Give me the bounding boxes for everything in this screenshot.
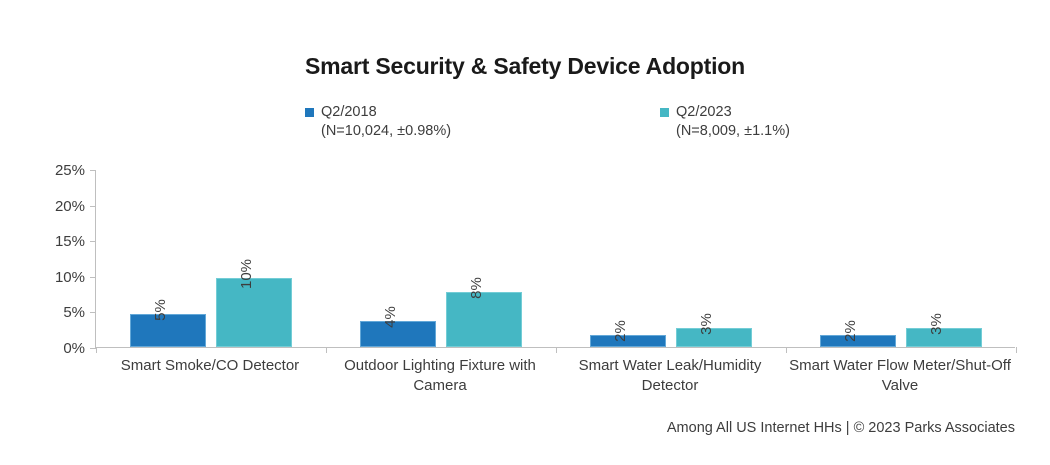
x-axis-category-label: Smart Smoke/CO Detector xyxy=(95,356,325,376)
bar-series-0-category-1: 4% xyxy=(360,321,436,347)
y-axis-tick xyxy=(90,312,96,313)
chart-footnote: Among All US Internet HHs | © 2023 Parks… xyxy=(0,420,1015,436)
chart-title: Smart Security & Safety Device Adoption xyxy=(0,53,1050,80)
legend-sublabel-series-0: (N=10,024, ±0.98%) xyxy=(305,122,451,141)
legend-item-q2-2023: Q2/2023 (N=8,009, ±1.1%) xyxy=(660,103,790,141)
bar-value-label: 3% xyxy=(699,313,714,335)
bar-chart: Smart Security & Safety Device Adoption … xyxy=(0,0,1050,465)
y-axis-tick xyxy=(90,206,96,207)
y-axis-tick-label: 25% xyxy=(35,163,85,178)
y-axis-tick-label: 10% xyxy=(35,270,85,285)
bar-value-label: 3% xyxy=(929,313,944,335)
y-axis-tick-label: 0% xyxy=(35,341,85,356)
x-axis-category-label: Smart Water Leak/Humidity Detector xyxy=(555,356,785,396)
bar-value-label: 5% xyxy=(153,299,168,321)
x-axis-tick xyxy=(556,347,557,353)
y-axis-tick xyxy=(90,170,96,171)
x-axis-category-labels: Smart Smoke/CO DetectorOutdoor Lighting … xyxy=(95,356,1015,406)
legend-swatch-icon-series-0 xyxy=(305,108,314,117)
bar-series-1-category-1: 8% xyxy=(446,292,522,347)
legend-item-q2-2018: Q2/2018 (N=10,024, ±0.98%) xyxy=(305,103,451,141)
bar-series-0-category-0: 5% xyxy=(130,314,206,347)
bar-value-label: 10% xyxy=(239,259,254,289)
y-axis-tick xyxy=(90,241,96,242)
legend-label-series-0: Q2/2018 xyxy=(321,103,377,122)
bar-series-0-category-2: 2% xyxy=(590,335,666,347)
x-axis-tick xyxy=(786,347,787,353)
bar-value-label: 2% xyxy=(613,320,628,342)
bar-value-label: 8% xyxy=(469,277,484,299)
y-axis-tick xyxy=(90,277,96,278)
x-axis-tick xyxy=(96,347,97,353)
bar-series-0-category-3: 2% xyxy=(820,335,896,347)
legend-sublabel-series-1: (N=8,009, ±1.1%) xyxy=(660,122,790,141)
x-axis-tick xyxy=(326,347,327,353)
plot-area: 5%10%4%8%2%3%2%3% xyxy=(95,170,1015,348)
bar-series-1-category-2: 3% xyxy=(676,328,752,347)
chart-legend: Q2/2018 (N=10,024, ±0.98%) Q2/2023 (N=8,… xyxy=(0,103,1050,148)
bar-series-1-category-3: 3% xyxy=(906,328,982,347)
x-axis-category-label: Smart Water Flow Meter/Shut-Off Valve xyxy=(785,356,1015,396)
y-axis-tick-label: 5% xyxy=(35,305,85,320)
y-axis-tick-label: 20% xyxy=(35,199,85,214)
bar-value-label: 4% xyxy=(383,306,398,328)
y-axis-tick-label: 15% xyxy=(35,234,85,249)
x-axis-category-label: Outdoor Lighting Fixture with Camera xyxy=(325,356,555,396)
bar-value-label: 2% xyxy=(843,320,858,342)
legend-swatch-icon-series-1 xyxy=(660,108,669,117)
x-axis-tick xyxy=(1016,347,1017,353)
bar-series-1-category-0: 10% xyxy=(216,278,292,347)
legend-label-series-1: Q2/2023 xyxy=(676,103,732,122)
